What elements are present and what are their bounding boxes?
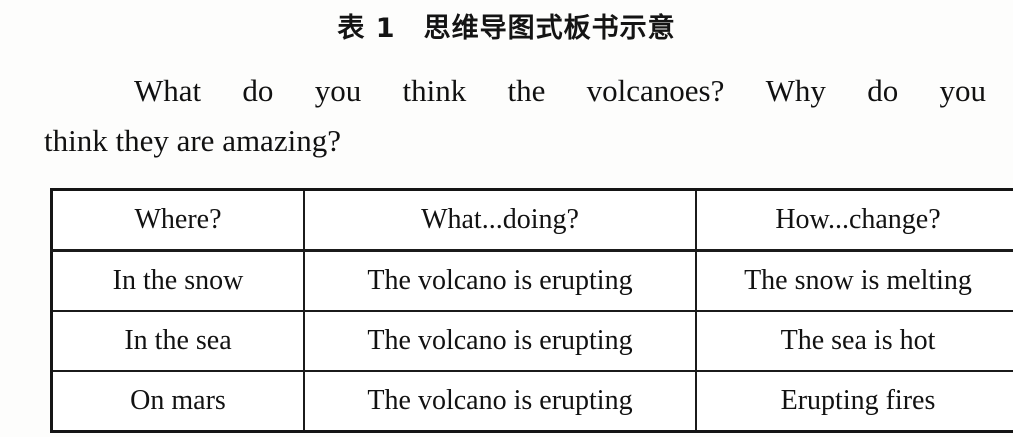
question-word: think xyxy=(402,66,466,116)
table-row: In the sea The volcano is erupting The s… xyxy=(52,311,1013,371)
table-header-row: Where? What...doing? How...change? xyxy=(52,190,1013,251)
table-cell-how: Erupting fires xyxy=(696,371,1013,432)
table-cell-where: In the snow xyxy=(52,251,305,312)
table-header-cell-where: Where? xyxy=(52,190,305,251)
table-cell-how: The snow is melting xyxy=(696,251,1013,312)
table-row: In the snow The volcano is erupting The … xyxy=(52,251,1013,312)
document-page: 表 1 思维导图式板书示意 What do you think the volc… xyxy=(0,0,1013,437)
table-cell-where: On mars xyxy=(52,371,305,432)
table-cell-what: The volcano is erupting xyxy=(304,251,696,312)
table-header-cell-how: How...change? xyxy=(696,190,1013,251)
question-word: you xyxy=(939,66,986,116)
question-paragraph: What do you think the volcanoes? Why do … xyxy=(44,66,986,166)
table-header-cell-what: What...doing? xyxy=(304,190,696,251)
table-cell-where: In the sea xyxy=(52,311,305,371)
question-word: the xyxy=(508,66,546,116)
question-word: volcanoes? xyxy=(587,66,725,116)
table-cell-what: The volcano is erupting xyxy=(304,311,696,371)
question-word: you xyxy=(315,66,362,116)
question-word: do xyxy=(867,66,898,116)
question-word: What xyxy=(134,66,201,116)
question-word: Why xyxy=(766,66,826,116)
question-line-2: think they are amazing? xyxy=(44,116,986,166)
table-cell-what: The volcano is erupting xyxy=(304,371,696,432)
table-caption: 表 1 思维导图式板书示意 xyxy=(0,6,1013,45)
table-cell-how: The sea is hot xyxy=(696,311,1013,371)
question-word: do xyxy=(242,66,273,116)
question-line-1: What do you think the volcanoes? Why do … xyxy=(44,66,986,116)
table-row: On mars The volcano is erupting Erupting… xyxy=(52,371,1013,432)
mind-map-board-table: Where? What...doing? How...change? In th… xyxy=(50,188,1013,433)
